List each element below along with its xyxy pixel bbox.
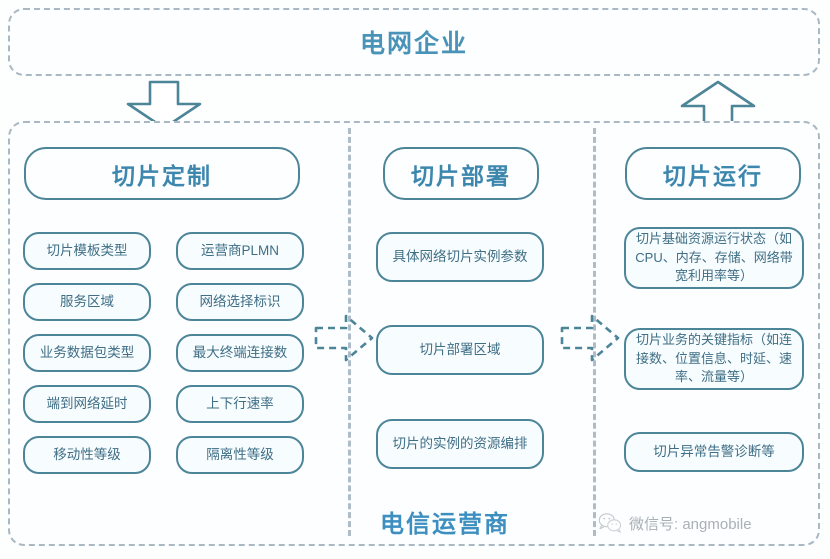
footer-credit: 微信号: angmobile xyxy=(598,512,752,534)
item-service-area[interactable]: 服务区域 xyxy=(23,283,151,321)
item-slice-resource-status[interactable]: 切片基础资源运行状态（如CPU、内存、存储、网络带宽利用率等） xyxy=(624,227,804,289)
item-slice-kpi-metrics[interactable]: 切片业务的关键指标（如连接数、位置信息、时延、速率、流量等） xyxy=(624,328,804,390)
item-uplink-downlink-rate[interactable]: 上下行速率 xyxy=(176,385,304,423)
connector-arrow-2 xyxy=(558,310,622,366)
item-operator-plmn[interactable]: 运营商PLMN xyxy=(176,232,304,270)
grid-enterprise-container: 电网企业 xyxy=(8,8,820,76)
wechat-icon xyxy=(598,512,622,534)
column-header-slice-deployment[interactable]: 切片部署 xyxy=(383,147,539,200)
connector-arrow-1 xyxy=(312,310,376,366)
item-slice-instance-parameters[interactable]: 具体网络切片实例参数 xyxy=(376,232,544,282)
item-isolation-level[interactable]: 隔离性等级 xyxy=(176,436,304,474)
grid-enterprise-title: 电网企业 xyxy=(10,10,818,74)
item-mobility-level[interactable]: 移动性等级 xyxy=(23,436,151,474)
column-header-slice-operation[interactable]: 切片运行 xyxy=(625,147,801,200)
telecom-operator-label: 电信运营商 xyxy=(380,504,510,539)
column-header-slice-customization[interactable]: 切片定制 xyxy=(24,147,300,200)
item-slice-fault-alarm[interactable]: 切片异常告警诊断等 xyxy=(624,432,804,472)
item-network-selection-id[interactable]: 网络选择标识 xyxy=(176,283,304,321)
item-end-to-network-latency[interactable]: 端到网络延时 xyxy=(23,385,151,423)
item-slice-resource-orchestration[interactable]: 切片的实例的资源编排 xyxy=(376,419,544,469)
item-slice-deployment-area[interactable]: 切片部署区域 xyxy=(376,325,544,375)
item-max-terminal-connections[interactable]: 最大终端连接数 xyxy=(176,334,304,372)
wechat-account-text: 微信号: angmobile xyxy=(629,513,752,534)
diagram-canvas: 电网企业 切片定制 切片部署 切片运行 切片模板类型 运营商PLMN 服务区域 … xyxy=(0,0,830,559)
item-service-packet-type[interactable]: 业务数据包类型 xyxy=(23,334,151,372)
item-slice-template-type[interactable]: 切片模板类型 xyxy=(23,232,151,270)
